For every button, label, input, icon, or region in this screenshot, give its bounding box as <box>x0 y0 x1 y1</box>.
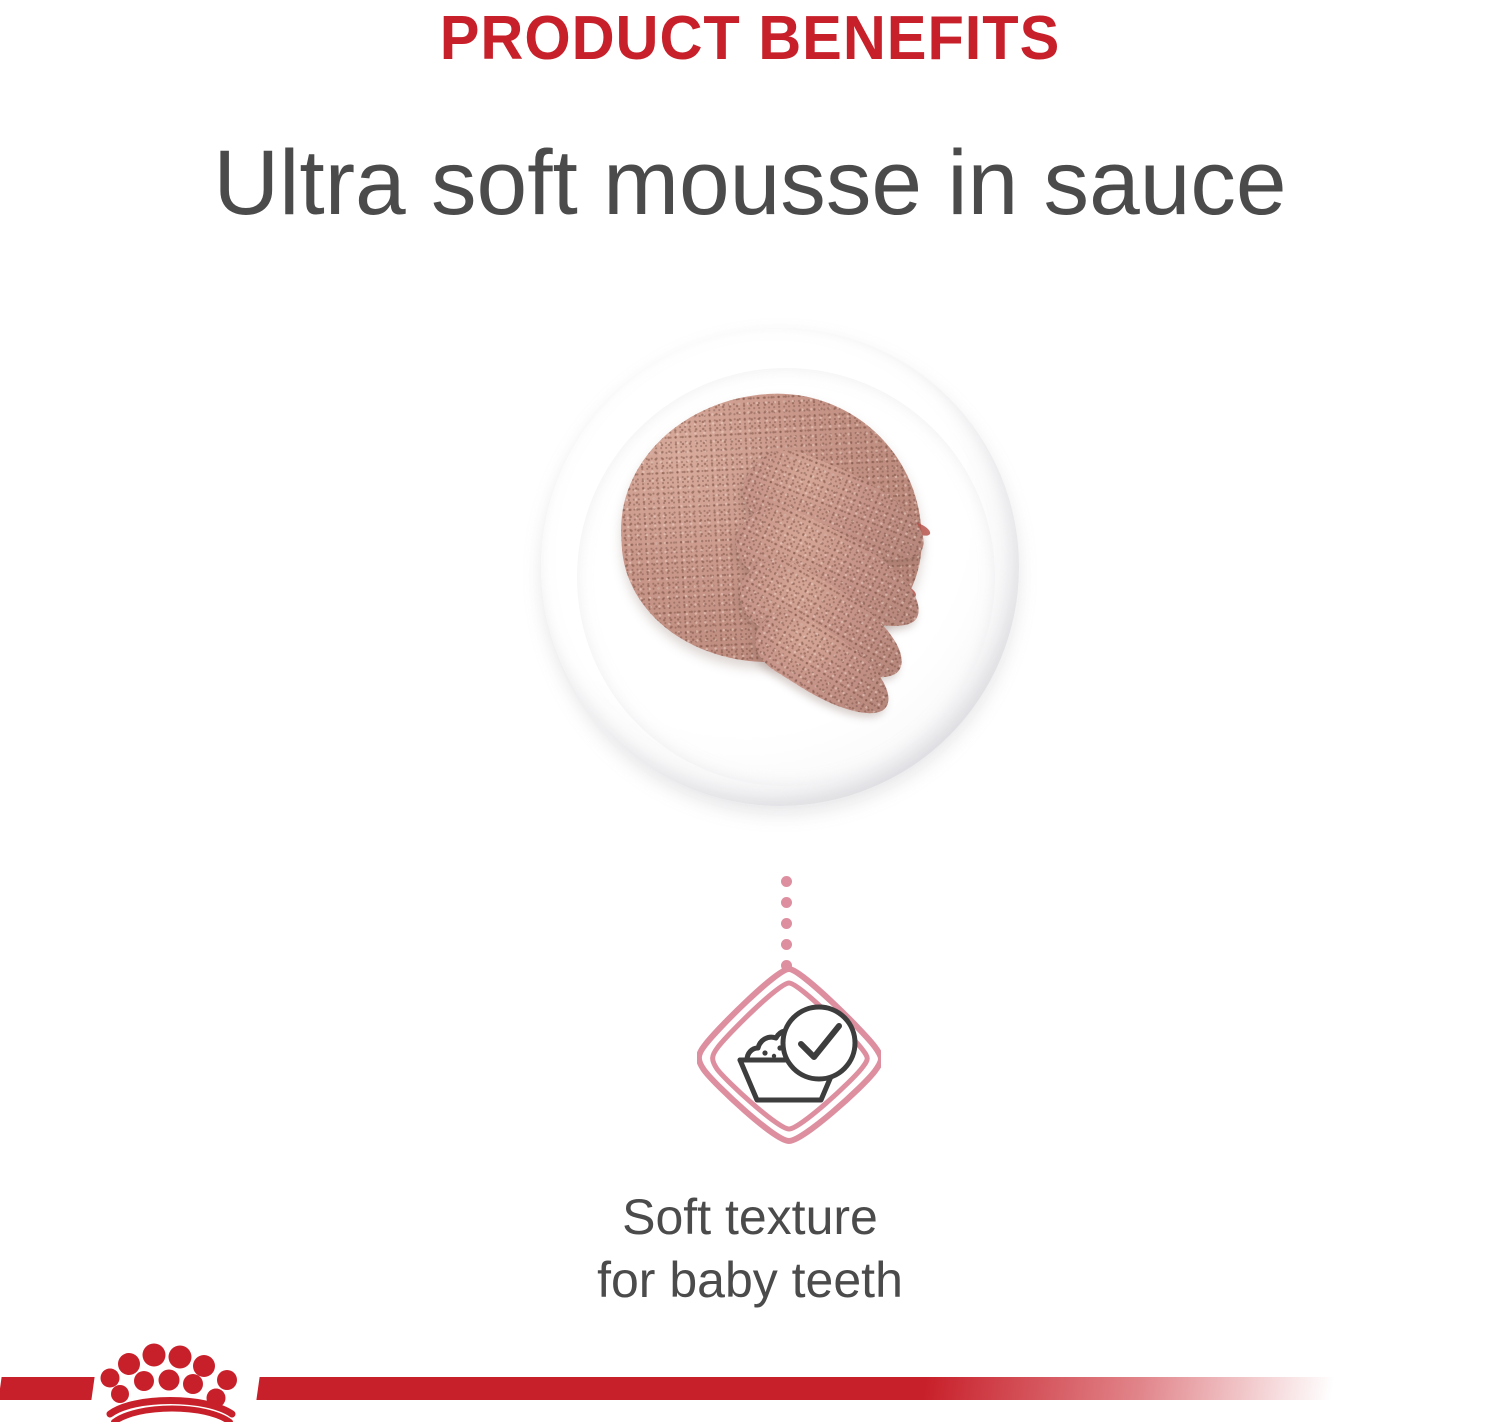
crown-dot <box>101 1369 120 1388</box>
footer-rule-right <box>256 1377 1334 1400</box>
benefit-caption: Soft texture for baby teeth <box>0 1186 1500 1312</box>
connector-dot <box>781 897 792 908</box>
dotted-connector <box>781 876 793 972</box>
crown-dot <box>143 1344 166 1367</box>
crown-dot <box>111 1385 129 1403</box>
food-bowl-check-icon <box>697 963 881 1147</box>
royal-canin-crown-logo <box>96 1340 248 1422</box>
footer-rule-left <box>0 1377 95 1400</box>
connector-dot <box>781 918 792 929</box>
crown-arc-lower <box>114 1409 230 1423</box>
crown-dot <box>118 1353 140 1375</box>
crown-dot <box>193 1355 215 1377</box>
hero-product-photo <box>535 318 1025 818</box>
crown-dot <box>183 1374 203 1394</box>
kibble-dot <box>762 1050 767 1055</box>
kibble-dot <box>772 1054 776 1058</box>
check-badge-circle <box>783 1007 855 1079</box>
page-title: PRODUCT BENEFITS <box>30 6 1470 71</box>
page-subtitle: Ultra soft mousse in sauce <box>8 128 1493 238</box>
crown-dot <box>169 1346 192 1369</box>
crown-dot <box>134 1371 154 1391</box>
connector-dot <box>781 939 792 950</box>
connector-dot <box>781 876 792 887</box>
crown-dot <box>159 1370 180 1391</box>
crown-dot <box>217 1370 237 1390</box>
